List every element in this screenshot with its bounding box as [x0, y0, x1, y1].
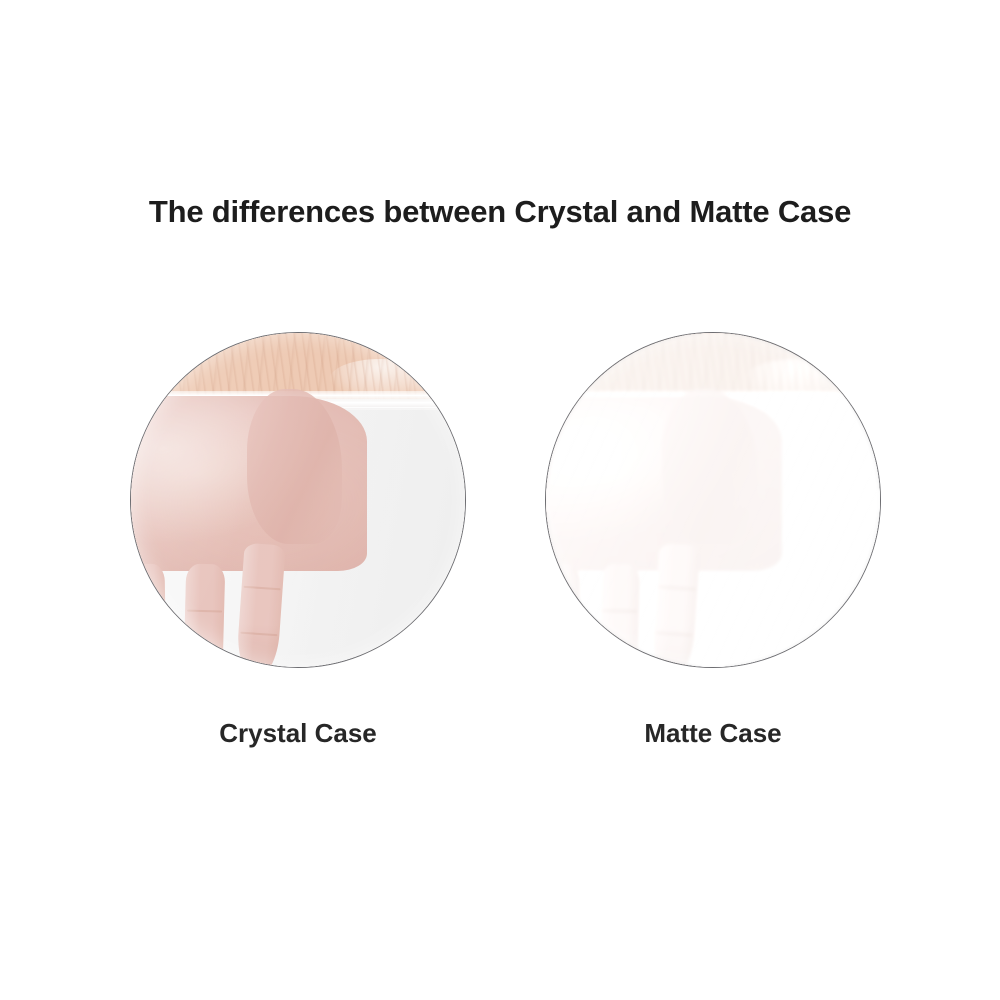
hand-under-case	[545, 396, 807, 668]
comparison-item-crystal	[130, 332, 466, 668]
finger-middle	[596, 563, 640, 668]
comparison-item-matte	[545, 332, 881, 668]
caption-matte-case: Matte Case	[545, 718, 881, 749]
matte-case-photo	[545, 332, 881, 668]
finger-ring	[545, 564, 583, 668]
thumb	[662, 389, 757, 544]
finger-ring	[130, 564, 168, 668]
page-title: The differences between Crystal and Matt…	[0, 194, 1000, 230]
hand-under-case	[130, 396, 392, 668]
finger-index	[651, 542, 701, 668]
thumb	[247, 389, 342, 544]
finger-middle	[181, 563, 225, 668]
finger-index	[236, 542, 286, 668]
caption-crystal-case: Crystal Case	[130, 718, 466, 749]
comparison-row	[0, 332, 1000, 672]
product-comparison-page: The differences between Crystal and Matt…	[0, 0, 1000, 1000]
crystal-case-photo	[130, 332, 466, 668]
